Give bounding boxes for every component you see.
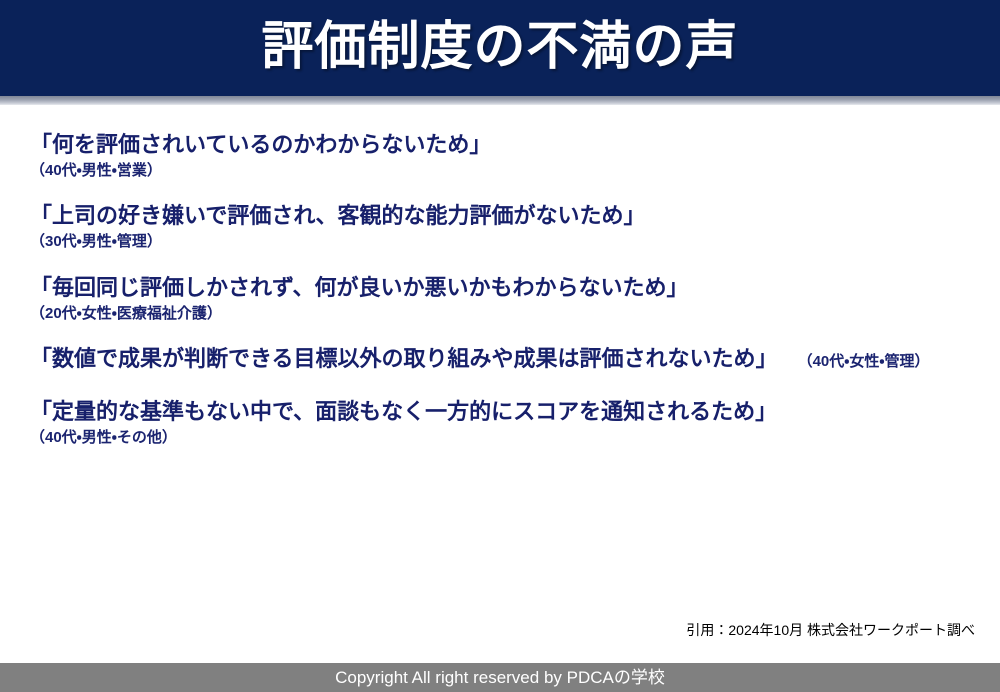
quote-item-1: 「何を評価されいているのかわからないため」 （40代・男性・営業）: [30, 130, 976, 181]
quote-item-3: 「毎回同じ評価しかされず、何が良いか悪いかもわからないため」 （20代・女性・医…: [30, 273, 976, 324]
page-title: 評価制度の不満の声: [261, 21, 738, 75]
quote-attribution: （40代・男性・その他）: [30, 428, 976, 448]
slide-footer: Copyright All right reserved by PDCAの学校: [0, 663, 1000, 692]
quote-attribution: （40代・女性・管理）: [798, 353, 930, 370]
quote-item-2: 「上司の好き嫌いで評価され、客観的な能力評価がないため」 （30代・男性・管理）: [30, 201, 976, 252]
header-shadow-divider: [0, 96, 1000, 105]
quote-text: 「定量的な基準もない中で、面談もなく一方的にスコアを通知されるため」: [30, 399, 777, 424]
slide-root: { "header": { "title": "評価制度の不満の声", "bac…: [0, 0, 1000, 692]
quote-item-5: 「定量的な基準もない中で、面談もなく一方的にスコアを通知されるため」 （40代・…: [30, 397, 976, 448]
quote-item-4: 「数値で成果が判断できる目標以外の取り組みや成果は評価されないため」（40代・女…: [30, 344, 976, 373]
quote-text: 「何を評価されいているのかわからないため」: [30, 132, 491, 157]
copyright-text: Copyright All right reserved by PDCAの学校: [335, 669, 665, 686]
quote-text: 「上司の好き嫌いで評価され、客観的な能力評価がないため」: [30, 203, 646, 228]
quote-list: 「何を評価されいているのかわからないため」 （40代・男性・営業） 「上司の好き…: [0, 130, 1000, 448]
quote-attribution: （40代・男性・営業）: [30, 161, 976, 181]
source-citation: 引用：2024年10月 株式会社ワークポート調べ: [686, 622, 975, 639]
slide-header: 評価制度の不満の声: [0, 0, 1000, 96]
quote-attribution: （20代・女性・医療福祉介護）: [30, 304, 976, 324]
quote-text: 「数値で成果が判断できる目標以外の取り組みや成果は評価されないため」: [30, 346, 778, 371]
quote-attribution: （30代・男性・管理）: [30, 232, 976, 252]
quote-text: 「毎回同じ評価しかされず、何が良いか悪いかもわからないため」: [30, 275, 688, 300]
